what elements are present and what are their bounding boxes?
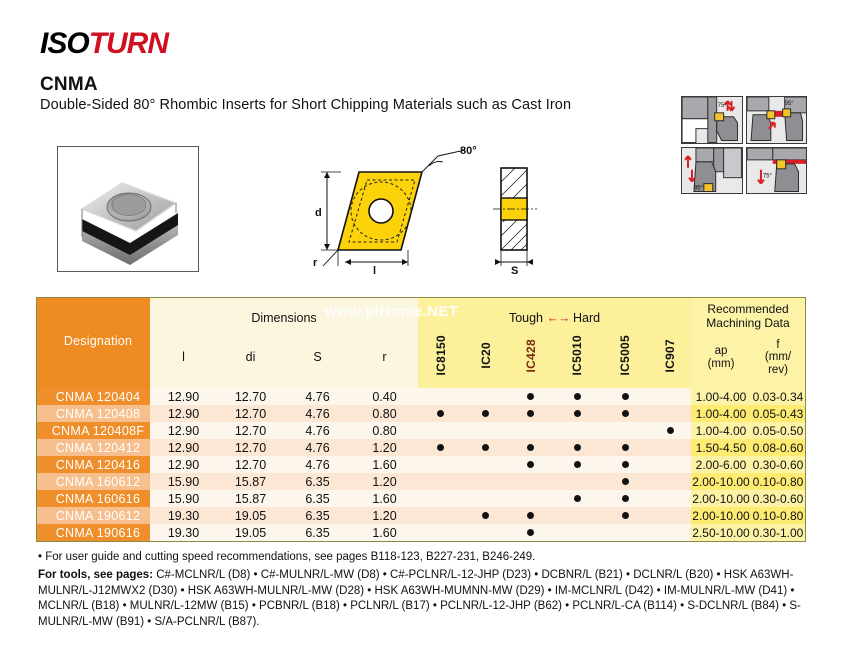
cell-S: 4.76	[284, 439, 351, 456]
cell-grade-ic428	[508, 490, 553, 507]
header-grade-ic5010: IC5010	[553, 330, 601, 388]
f-unit-line2: rev)	[751, 364, 805, 377]
header-grade-ic8150: IC8150	[418, 330, 463, 388]
ap-symbol: ap	[691, 345, 751, 358]
availability-dot-icon	[527, 393, 534, 400]
cell-grade-ic428	[508, 422, 553, 439]
cell-grade-ic20	[463, 490, 508, 507]
header-col-f: f (mm/ rev)	[751, 330, 805, 388]
cell-S: 6.35	[284, 490, 351, 507]
table-row: CNMA 19061619.3019.056.351.602.50-10.000…	[37, 524, 805, 541]
tough-label: Tough	[509, 311, 543, 325]
table-row: CNMA 12041612.9012.704.761.602.00-6.000.…	[37, 456, 805, 473]
availability-dot-icon	[437, 410, 444, 417]
cell-l: 15.90	[150, 490, 217, 507]
header-col-ap: ap (mm)	[691, 330, 751, 388]
header-grade-ic907: IC907	[649, 330, 691, 388]
cell-grade-ic907	[649, 490, 691, 507]
cell-grade-ic907	[649, 439, 691, 456]
cell-l: 19.30	[150, 524, 217, 541]
cell-designation: CNMA 120408F	[37, 422, 150, 439]
tools-note-label: For tools, see pages:	[38, 569, 153, 581]
cell-r: 1.60	[351, 490, 418, 507]
svg-text:75°: 75°	[718, 103, 728, 109]
header-col-r: r	[351, 330, 418, 388]
cell-l: 19.30	[150, 507, 217, 524]
cell-grade-ic5010	[553, 524, 601, 541]
cell-S: 4.76	[284, 422, 351, 439]
f-unit-line1: (mm/	[751, 351, 805, 364]
cell-ap: 1.00-4.00	[691, 388, 751, 405]
application-diagrams: 75° 95°	[681, 96, 807, 194]
cell-l: 12.90	[150, 456, 217, 473]
header-col-s: S	[284, 330, 351, 388]
svg-text:80°: 80°	[460, 145, 477, 157]
cell-f: 0.05-0.43	[751, 405, 805, 422]
table-row: CNMA 19061219.3019.056.351.202.00-10.000…	[37, 507, 805, 524]
availability-dot-icon	[527, 461, 534, 468]
cell-grade-ic5010	[553, 507, 601, 524]
cell-grade-ic5010	[553, 439, 601, 456]
page-subtitle: Double-Sided 80° Rhombic Inserts for Sho…	[40, 97, 571, 113]
table-column-header-row: l di S r IC8150 IC20 IC428 IC5010 IC5005…	[37, 330, 805, 388]
availability-dot-icon	[574, 410, 581, 417]
cell-ap: 2.00-10.00	[691, 507, 751, 524]
cell-designation: CNMA 120408	[37, 405, 150, 422]
cell-grade-ic907	[649, 388, 691, 405]
f-symbol: f	[751, 339, 805, 352]
application-diagram-4: 75°	[746, 147, 808, 195]
table-row: CNMA 12041212.9012.704.761.201.50-4.500.…	[37, 439, 805, 456]
availability-dot-icon	[622, 495, 629, 502]
logo-iso-text: ISO	[40, 27, 89, 60]
cell-grade-ic5010	[553, 422, 601, 439]
insert-photo-image	[58, 147, 198, 271]
cell-f: 0.05-0.50	[751, 422, 805, 439]
cell-l: 12.90	[150, 405, 217, 422]
cell-r: 1.20	[351, 473, 418, 490]
cell-grade-ic20	[463, 405, 508, 422]
cell-designation: CNMA 120412	[37, 439, 150, 456]
header-designation: Designation	[37, 298, 150, 388]
cell-grade-ic907	[649, 507, 691, 524]
cell-di: 12.70	[217, 422, 284, 439]
cell-grade-ic20	[463, 456, 508, 473]
ap-unit: (mm)	[691, 358, 751, 371]
cell-ap: 2.00-6.00	[691, 456, 751, 473]
cell-grade-ic20	[463, 507, 508, 524]
application-diagram-3: 95°	[681, 147, 743, 195]
svg-text:75°: 75°	[762, 173, 772, 179]
cell-grade-ic5005	[601, 422, 649, 439]
cell-ap: 2.00-10.00	[691, 490, 751, 507]
cell-di: 15.87	[217, 490, 284, 507]
toughness-scale-label: Tough ←→ Hard	[509, 311, 600, 325]
availability-dot-icon	[622, 478, 629, 485]
cell-grade-ic428	[508, 456, 553, 473]
turning-operation-75b-icon: 75°	[747, 148, 807, 194]
turning-operation-75-icon: 75°	[682, 97, 742, 143]
availability-dot-icon	[574, 495, 581, 502]
cell-grade-ic8150	[418, 456, 463, 473]
tough-hard-arrow-icon: ←→	[546, 311, 569, 325]
hard-label: Hard	[573, 311, 600, 325]
cell-f: 0.08-0.60	[751, 439, 805, 456]
svg-text:95°: 95°	[784, 101, 794, 107]
cell-l: 12.90	[150, 422, 217, 439]
table-row: CNMA 120408F12.9012.704.760.801.00-4.000…	[37, 422, 805, 439]
cell-grade-ic907	[649, 456, 691, 473]
header-dimensions-group: Dimensions	[150, 298, 418, 330]
insert-drawing-svg: d l r 80°	[305, 138, 555, 278]
cell-grade-ic428	[508, 405, 553, 422]
cell-ap: 1.50-4.50	[691, 439, 751, 456]
cell-ap: 1.00-4.00	[691, 405, 751, 422]
cell-di: 15.87	[217, 473, 284, 490]
cell-f: 0.30-1.00	[751, 524, 805, 541]
product-table-grid: Designation Dimensions Tough ←→ Hard Rec…	[37, 298, 805, 541]
cell-S: 4.76	[284, 456, 351, 473]
usage-note: • For user guide and cutting speed recom…	[38, 551, 535, 563]
table-row: CNMA 12040412.9012.704.760.401.00-4.000.…	[37, 388, 805, 405]
table-group-header-row: Designation Dimensions Tough ←→ Hard Rec…	[37, 298, 805, 330]
product-photo	[57, 146, 199, 272]
cell-grade-ic5010	[553, 473, 601, 490]
datasheet-page: ISOTURN CNMA Double-Sided 80° Rhombic In…	[0, 0, 842, 645]
cell-grade-ic5005	[601, 456, 649, 473]
availability-dot-icon	[574, 393, 581, 400]
facing-operation-icon: 95°	[682, 148, 742, 194]
svg-text:d: d	[315, 207, 322, 219]
cell-S: 6.35	[284, 524, 351, 541]
cell-grade-ic428	[508, 524, 553, 541]
cell-ap: 2.50-10.00	[691, 524, 751, 541]
cell-l: 12.90	[150, 388, 217, 405]
cell-di: 12.70	[217, 439, 284, 456]
cell-grade-ic5010	[553, 388, 601, 405]
cell-ap: 1.00-4.00	[691, 422, 751, 439]
cell-di: 12.70	[217, 405, 284, 422]
availability-dot-icon	[622, 512, 629, 519]
turning-operation-95-icon: 95°	[747, 97, 807, 143]
cell-di: 12.70	[217, 388, 284, 405]
availability-dot-icon	[622, 393, 629, 400]
availability-dot-icon	[482, 410, 489, 417]
cell-grade-ic20	[463, 524, 508, 541]
cell-S: 4.76	[284, 388, 351, 405]
table-row: CNMA 16061615.9015.876.351.602.00-10.000…	[37, 490, 805, 507]
cell-di: 19.05	[217, 507, 284, 524]
table-row: CNMA 16061215.9015.876.351.202.00-10.000…	[37, 473, 805, 490]
cell-di: 12.70	[217, 456, 284, 473]
cell-grade-ic8150	[418, 524, 463, 541]
cell-ap: 2.00-10.00	[691, 473, 751, 490]
cell-r: 1.60	[351, 524, 418, 541]
header-grade-ic428: IC428	[508, 330, 553, 388]
availability-dot-icon	[574, 444, 581, 451]
availability-dot-icon	[527, 512, 534, 519]
application-diagram-1: 75°	[681, 96, 743, 144]
cell-grade-ic5005	[601, 388, 649, 405]
cell-grade-ic5005	[601, 524, 649, 541]
cell-grade-ic20	[463, 422, 508, 439]
header-grade-ic20: IC20	[463, 330, 508, 388]
insert-dimension-drawing: d l r 80°	[305, 138, 555, 278]
cell-grade-ic5005	[601, 473, 649, 490]
header-machining-group: Recommended Machining Data	[691, 298, 805, 330]
cell-r: 0.40	[351, 388, 418, 405]
cell-grade-ic8150	[418, 490, 463, 507]
page-title: CNMA	[40, 74, 98, 96]
cell-S: 4.76	[284, 405, 351, 422]
tools-note-body: C#-MCLNR/L (D8) • C#-MULNR/L-MW (D8) • C…	[38, 569, 801, 628]
cell-grade-ic907	[649, 524, 691, 541]
svg-text:95°: 95°	[694, 185, 704, 191]
cell-f: 0.03-0.34	[751, 388, 805, 405]
cell-f: 0.10-0.80	[751, 473, 805, 490]
cell-grade-ic5010	[553, 490, 601, 507]
isoturn-logo: ISOTURN	[40, 28, 168, 60]
cell-grade-ic8150	[418, 507, 463, 524]
cell-S: 6.35	[284, 507, 351, 524]
table-body: CNMA 12040412.9012.704.760.401.00-4.000.…	[37, 388, 805, 541]
availability-dot-icon	[622, 461, 629, 468]
cell-r: 1.20	[351, 507, 418, 524]
product-table: Designation Dimensions Tough ←→ Hard Rec…	[36, 297, 806, 542]
table-row: CNMA 12040812.9012.704.760.801.00-4.000.…	[37, 405, 805, 422]
header-grade-ic5005: IC5005	[601, 330, 649, 388]
tools-note: For tools, see pages: C#-MCLNR/L (D8) • …	[38, 568, 818, 630]
logo-turn-text: TURN	[89, 27, 168, 60]
cell-grade-ic5010	[553, 456, 601, 473]
cell-S: 6.35	[284, 473, 351, 490]
availability-dot-icon	[527, 444, 534, 451]
cell-f: 0.30-0.60	[751, 456, 805, 473]
cell-grade-ic8150	[418, 473, 463, 490]
cell-grade-ic5005	[601, 490, 649, 507]
cell-grade-ic907	[649, 473, 691, 490]
availability-dot-icon	[622, 410, 629, 417]
availability-dot-icon	[574, 461, 581, 468]
cell-l: 12.90	[150, 439, 217, 456]
header-col-di: di	[217, 330, 284, 388]
cell-grade-ic8150	[418, 422, 463, 439]
cell-designation: CNMA 190616	[37, 524, 150, 541]
cell-grade-ic5005	[601, 405, 649, 422]
cell-grade-ic907	[649, 422, 691, 439]
cell-designation: CNMA 160612	[37, 473, 150, 490]
cell-designation: CNMA 190612	[37, 507, 150, 524]
cell-grade-ic20	[463, 388, 508, 405]
cell-r: 0.80	[351, 405, 418, 422]
cell-grade-ic5005	[601, 439, 649, 456]
cell-grade-ic5005	[601, 507, 649, 524]
cell-grade-ic8150	[418, 439, 463, 456]
cell-grade-ic428	[508, 439, 553, 456]
cell-grade-ic20	[463, 473, 508, 490]
cell-grade-ic428	[508, 473, 553, 490]
availability-dot-icon	[527, 410, 534, 417]
header-toughness-group: Tough ←→ Hard	[418, 298, 691, 330]
svg-text:l: l	[373, 265, 376, 277]
availability-dot-icon	[437, 444, 444, 451]
availability-dot-icon	[622, 444, 629, 451]
svg-text:r: r	[313, 257, 318, 269]
cell-f: 0.10-0.80	[751, 507, 805, 524]
cell-grade-ic8150	[418, 388, 463, 405]
cell-di: 19.05	[217, 524, 284, 541]
cell-r: 0.80	[351, 422, 418, 439]
cell-grade-ic20	[463, 439, 508, 456]
svg-text:S: S	[511, 265, 518, 277]
application-diagram-2: 95°	[746, 96, 808, 144]
cell-grade-ic5010	[553, 405, 601, 422]
cell-r: 1.60	[351, 456, 418, 473]
cell-designation: CNMA 120404	[37, 388, 150, 405]
table-header: Designation Dimensions Tough ←→ Hard Rec…	[37, 298, 805, 388]
cell-designation: CNMA 120416	[37, 456, 150, 473]
cell-r: 1.20	[351, 439, 418, 456]
availability-dot-icon	[482, 512, 489, 519]
cell-grade-ic8150	[418, 405, 463, 422]
header-col-l: l	[150, 330, 217, 388]
availability-dot-icon	[527, 529, 534, 536]
cell-designation: CNMA 160616	[37, 490, 150, 507]
cell-grade-ic428	[508, 507, 553, 524]
cell-grade-ic907	[649, 405, 691, 422]
availability-dot-icon	[667, 427, 674, 434]
cell-f: 0.30-0.60	[751, 490, 805, 507]
availability-dot-icon	[482, 444, 489, 451]
cell-l: 15.90	[150, 473, 217, 490]
cell-grade-ic428	[508, 388, 553, 405]
